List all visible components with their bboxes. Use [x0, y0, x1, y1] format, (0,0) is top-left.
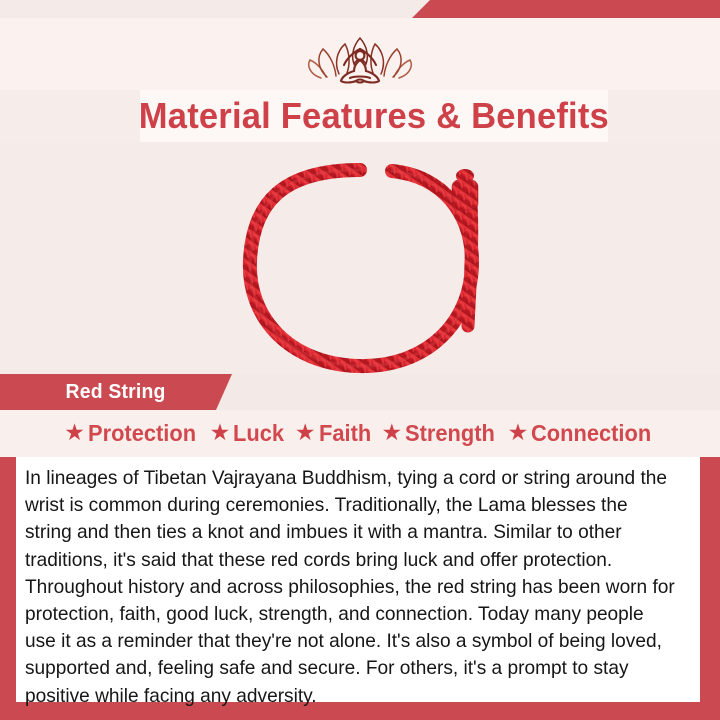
benefit-connection: ★ Connection	[508, 420, 658, 447]
benefit-label: Luck	[233, 420, 284, 447]
benefit-faith: ★ Faith	[295, 420, 374, 447]
brand-header: BUDDHA STONES	[0, 18, 720, 90]
star-icon: ★	[508, 421, 529, 444]
title-plate: Material Features & Benefits	[140, 90, 608, 142]
benefit-label: Connection	[531, 420, 651, 447]
product-image-stage	[0, 142, 720, 374]
benefit-label: Protection	[88, 420, 196, 447]
benefit-luck: ★ Luck	[210, 420, 287, 447]
star-icon: ★	[381, 421, 402, 444]
description-panel: In lineages of Tibetan Vajrayana Buddhis…	[16, 457, 700, 702]
benefit-protection: ★ Protection	[64, 420, 201, 447]
star-icon: ★	[210, 421, 231, 444]
frame-accent-top	[0, 0, 720, 18]
page-title: Material Features & Benefits	[139, 95, 609, 137]
benefit-strength: ★ Strength	[381, 420, 499, 447]
benefits-row: ★ Protection ★ Luck ★ Faith ★ Strength ★…	[0, 410, 720, 457]
lotus-meditation-icon	[301, 32, 419, 88]
product-label-plate: Red String	[0, 374, 232, 410]
benefit-label: Strength	[405, 420, 495, 447]
star-icon: ★	[64, 421, 85, 444]
poster-root: BUDDHA STONES Material Features & Benefi…	[0, 0, 720, 720]
description-text: In lineages of Tibetan Vajrayana Buddhis…	[25, 465, 676, 710]
star-icon: ★	[295, 421, 316, 444]
product-label: Red String	[66, 381, 166, 404]
red-string-bracelet-image	[0, 142, 720, 374]
benefit-label: Faith	[319, 420, 371, 447]
